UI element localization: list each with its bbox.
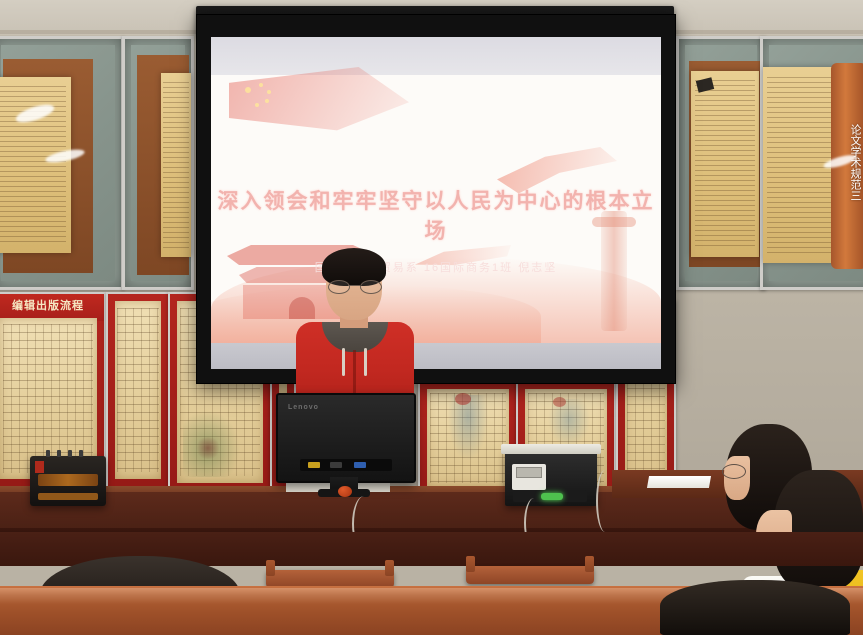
lens-right — [360, 280, 382, 294]
screen-bottom-band — [211, 343, 661, 369]
paper-sheet — [647, 476, 711, 488]
calligraphy-text — [695, 80, 755, 247]
hoodie-drawstring — [342, 348, 345, 376]
port-power — [308, 462, 320, 468]
printer-lcd-screen — [516, 467, 542, 478]
slide-subtitle: 国际经济与贸易系 16国际商务1班 倪志坚 — [211, 259, 661, 275]
chair-post — [466, 556, 475, 572]
status-indicator — [541, 493, 563, 500]
student-hair — [660, 580, 850, 635]
port-hdmi — [330, 462, 342, 468]
scroll-paper — [691, 71, 759, 257]
eyeglasses-icon — [328, 280, 380, 292]
framed-calligraphy-case-left-2 — [122, 36, 194, 290]
scroll-panel-right-1 — [418, 380, 518, 496]
lens-left — [328, 280, 350, 294]
student-foreground-right — [660, 580, 850, 635]
printer[interactable] — [505, 452, 597, 506]
flag-stars-icon — [245, 83, 299, 109]
projection-screen-frame: 深入领会和牢牢坚守以人民为中心的根本立场 国际经济与贸易系 16国际商务1班 倪… — [196, 14, 676, 384]
printer-lid — [501, 444, 601, 454]
eyeglasses-icon — [722, 464, 746, 479]
calligraphy-text — [767, 77, 830, 253]
chinese-flag-graphic — [229, 67, 409, 155]
monitor-port-bay — [300, 459, 392, 471]
monitor-rear[interactable]: Lenovo — [276, 393, 416, 483]
speaker-lower-band — [38, 493, 98, 500]
bird-painting — [445, 395, 491, 467]
glasses-bridge — [348, 285, 360, 286]
scroll-panel-left-2 — [106, 292, 170, 488]
panel-paper — [115, 301, 161, 479]
framed-scroll-case-right-2: 论文学术规范三 — [760, 36, 863, 290]
printer-control-panel[interactable] — [512, 464, 546, 490]
classroom-presentation-scene: 论文学术规范三 编辑出版流程 — [0, 0, 863, 635]
projection-screen-surface: 深入领会和牢牢坚守以人民为中心的根本立场 国际经济与贸易系 16国际商务1班 倪… — [211, 37, 661, 369]
case-backing — [1, 45, 115, 281]
case-backing — [131, 45, 185, 281]
scroll-paper — [0, 77, 71, 253]
speaker-knob-row[interactable] — [46, 450, 94, 457]
calligraphy-text — [163, 82, 189, 248]
hoodie-drawstring — [364, 348, 367, 376]
floral-bloom — [553, 397, 566, 407]
chair-post — [585, 556, 594, 572]
port-vga — [354, 462, 366, 468]
framed-calligraphy-case-left-1 — [0, 36, 124, 290]
speaker-amplifier[interactable] — [30, 456, 106, 506]
calligraphy-grid — [117, 308, 159, 472]
orange-knob[interactable] — [338, 486, 352, 497]
speaker-indicator — [35, 461, 44, 473]
framed-scroll-case-right-1 — [676, 36, 766, 290]
floral-bloom — [455, 393, 471, 405]
floral-bloom — [195, 437, 221, 459]
panel-paper — [427, 389, 509, 487]
case-backing — [685, 45, 757, 281]
case-backing: 论文学术规范三 — [769, 45, 863, 281]
speaker-grille-band — [38, 474, 98, 486]
monitor-brand-label: Lenovo — [288, 404, 319, 411]
panel-header-text: 编辑出版流程 — [0, 297, 100, 313]
chair-post — [266, 560, 275, 576]
scroll-paper — [161, 73, 191, 257]
wooden-chair[interactable] — [466, 566, 594, 584]
slide-title: 深入领会和牢牢坚守以人民为中心的根本立场 — [211, 185, 661, 245]
chair-post — [385, 560, 394, 576]
screen-top-band — [211, 37, 661, 75]
